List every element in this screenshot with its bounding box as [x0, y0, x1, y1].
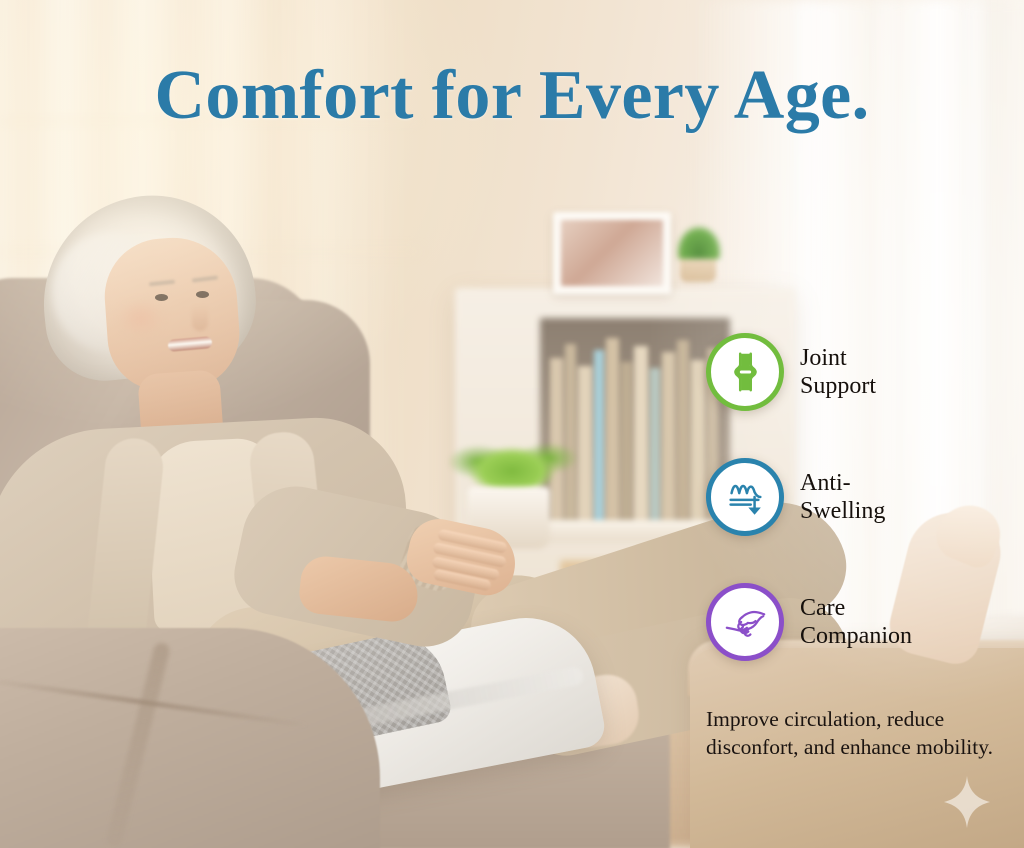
book	[662, 352, 675, 526]
feature-label: Care Companion	[800, 594, 912, 651]
feature-anti-swelling[interactable]: Anti- Swelling	[706, 455, 1006, 539]
joint-knee-icon	[722, 349, 768, 395]
caption-line2: disconfort, and enhance mobility.	[706, 734, 1024, 762]
feature-label-line1: Care	[800, 595, 845, 621]
book	[691, 360, 705, 526]
page-title: Comfort for Every Age.	[0, 56, 1024, 136]
framed-photo	[553, 212, 671, 294]
promo-poster: Comfort for Every Age. Joint Support	[0, 0, 1024, 848]
care-companion-badge	[706, 583, 784, 661]
feature-label: Joint Support	[800, 344, 876, 401]
helping-hands-icon	[722, 599, 768, 645]
framed-photo-image	[561, 220, 663, 286]
joint-support-badge	[706, 333, 784, 411]
sparkle-star-icon	[944, 776, 990, 828]
feature-list: Joint Support Anti- Swelling	[706, 330, 1006, 705]
feature-label-line1: Anti-	[800, 470, 851, 496]
caption-line1: Improve circulation, reduce	[706, 707, 944, 731]
small-succulent	[676, 225, 722, 259]
woman-eye-left	[155, 294, 168, 301]
swelling-wave-down-arrow-icon	[722, 474, 768, 520]
feature-label: Anti- Swelling	[800, 469, 885, 526]
feature-label-line2: Swelling	[800, 497, 885, 525]
book	[650, 368, 660, 526]
book	[634, 346, 648, 526]
feature-label-line1: Joint	[800, 345, 847, 371]
anti-swelling-badge	[706, 458, 784, 536]
woman-nose	[192, 305, 208, 331]
armchair-arm	[0, 628, 380, 848]
feature-label-line2: Support	[800, 372, 876, 400]
feature-care-companion[interactable]: Care Companion	[706, 580, 1006, 664]
feature-joint-support[interactable]: Joint Support	[706, 330, 1006, 414]
book	[594, 350, 604, 526]
book	[621, 362, 632, 526]
feature-label-line2: Companion	[800, 622, 912, 650]
caption-text: Improve circulation, reduce disconfort, …	[706, 706, 1024, 762]
book	[606, 338, 619, 526]
book	[677, 340, 689, 526]
woman-cheek	[118, 300, 164, 336]
woman-eye-right	[196, 291, 209, 298]
